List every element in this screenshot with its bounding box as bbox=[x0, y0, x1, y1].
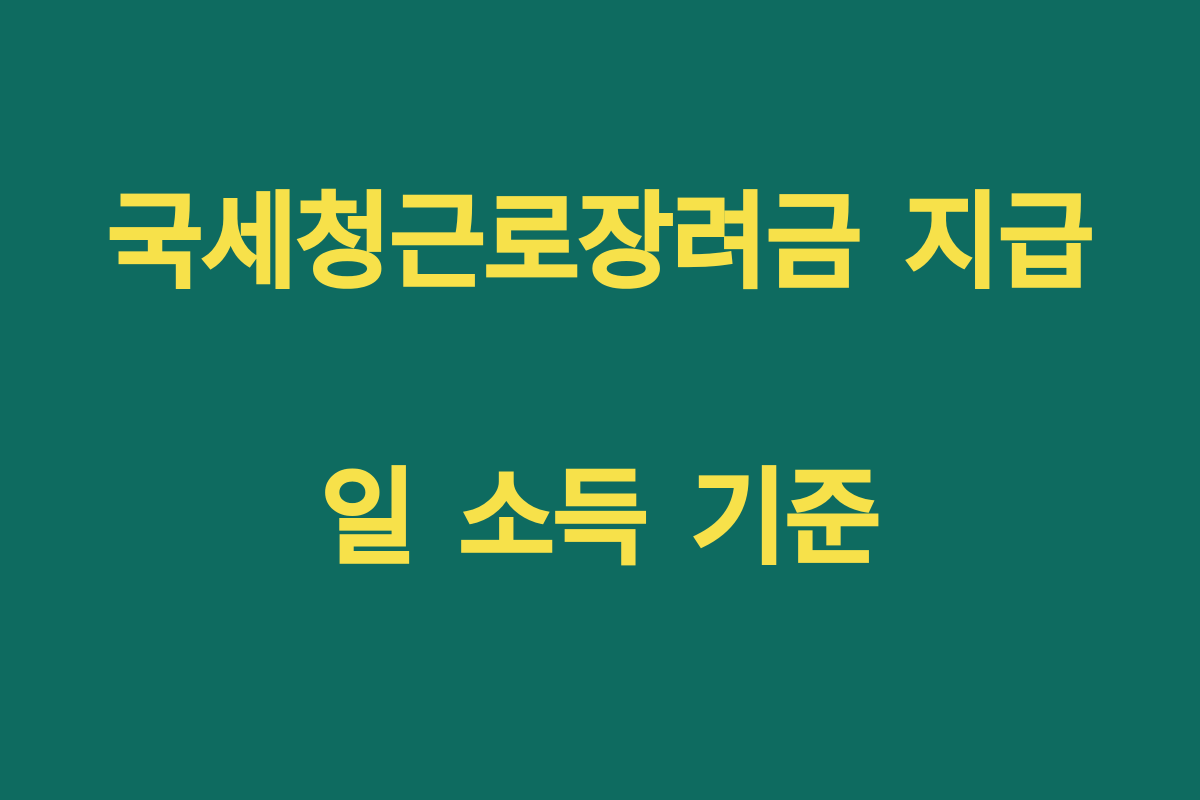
headline-line-2: 일 소득 기준 bbox=[107, 450, 1092, 588]
banner-canvas: 국세청근로장려금 지급 일 소득 기준 bbox=[0, 0, 1200, 800]
headline-line-1: 국세청근로장려금 지급 bbox=[107, 174, 1092, 312]
page-title: 국세청근로장려금 지급 일 소득 기준 bbox=[107, 35, 1092, 727]
